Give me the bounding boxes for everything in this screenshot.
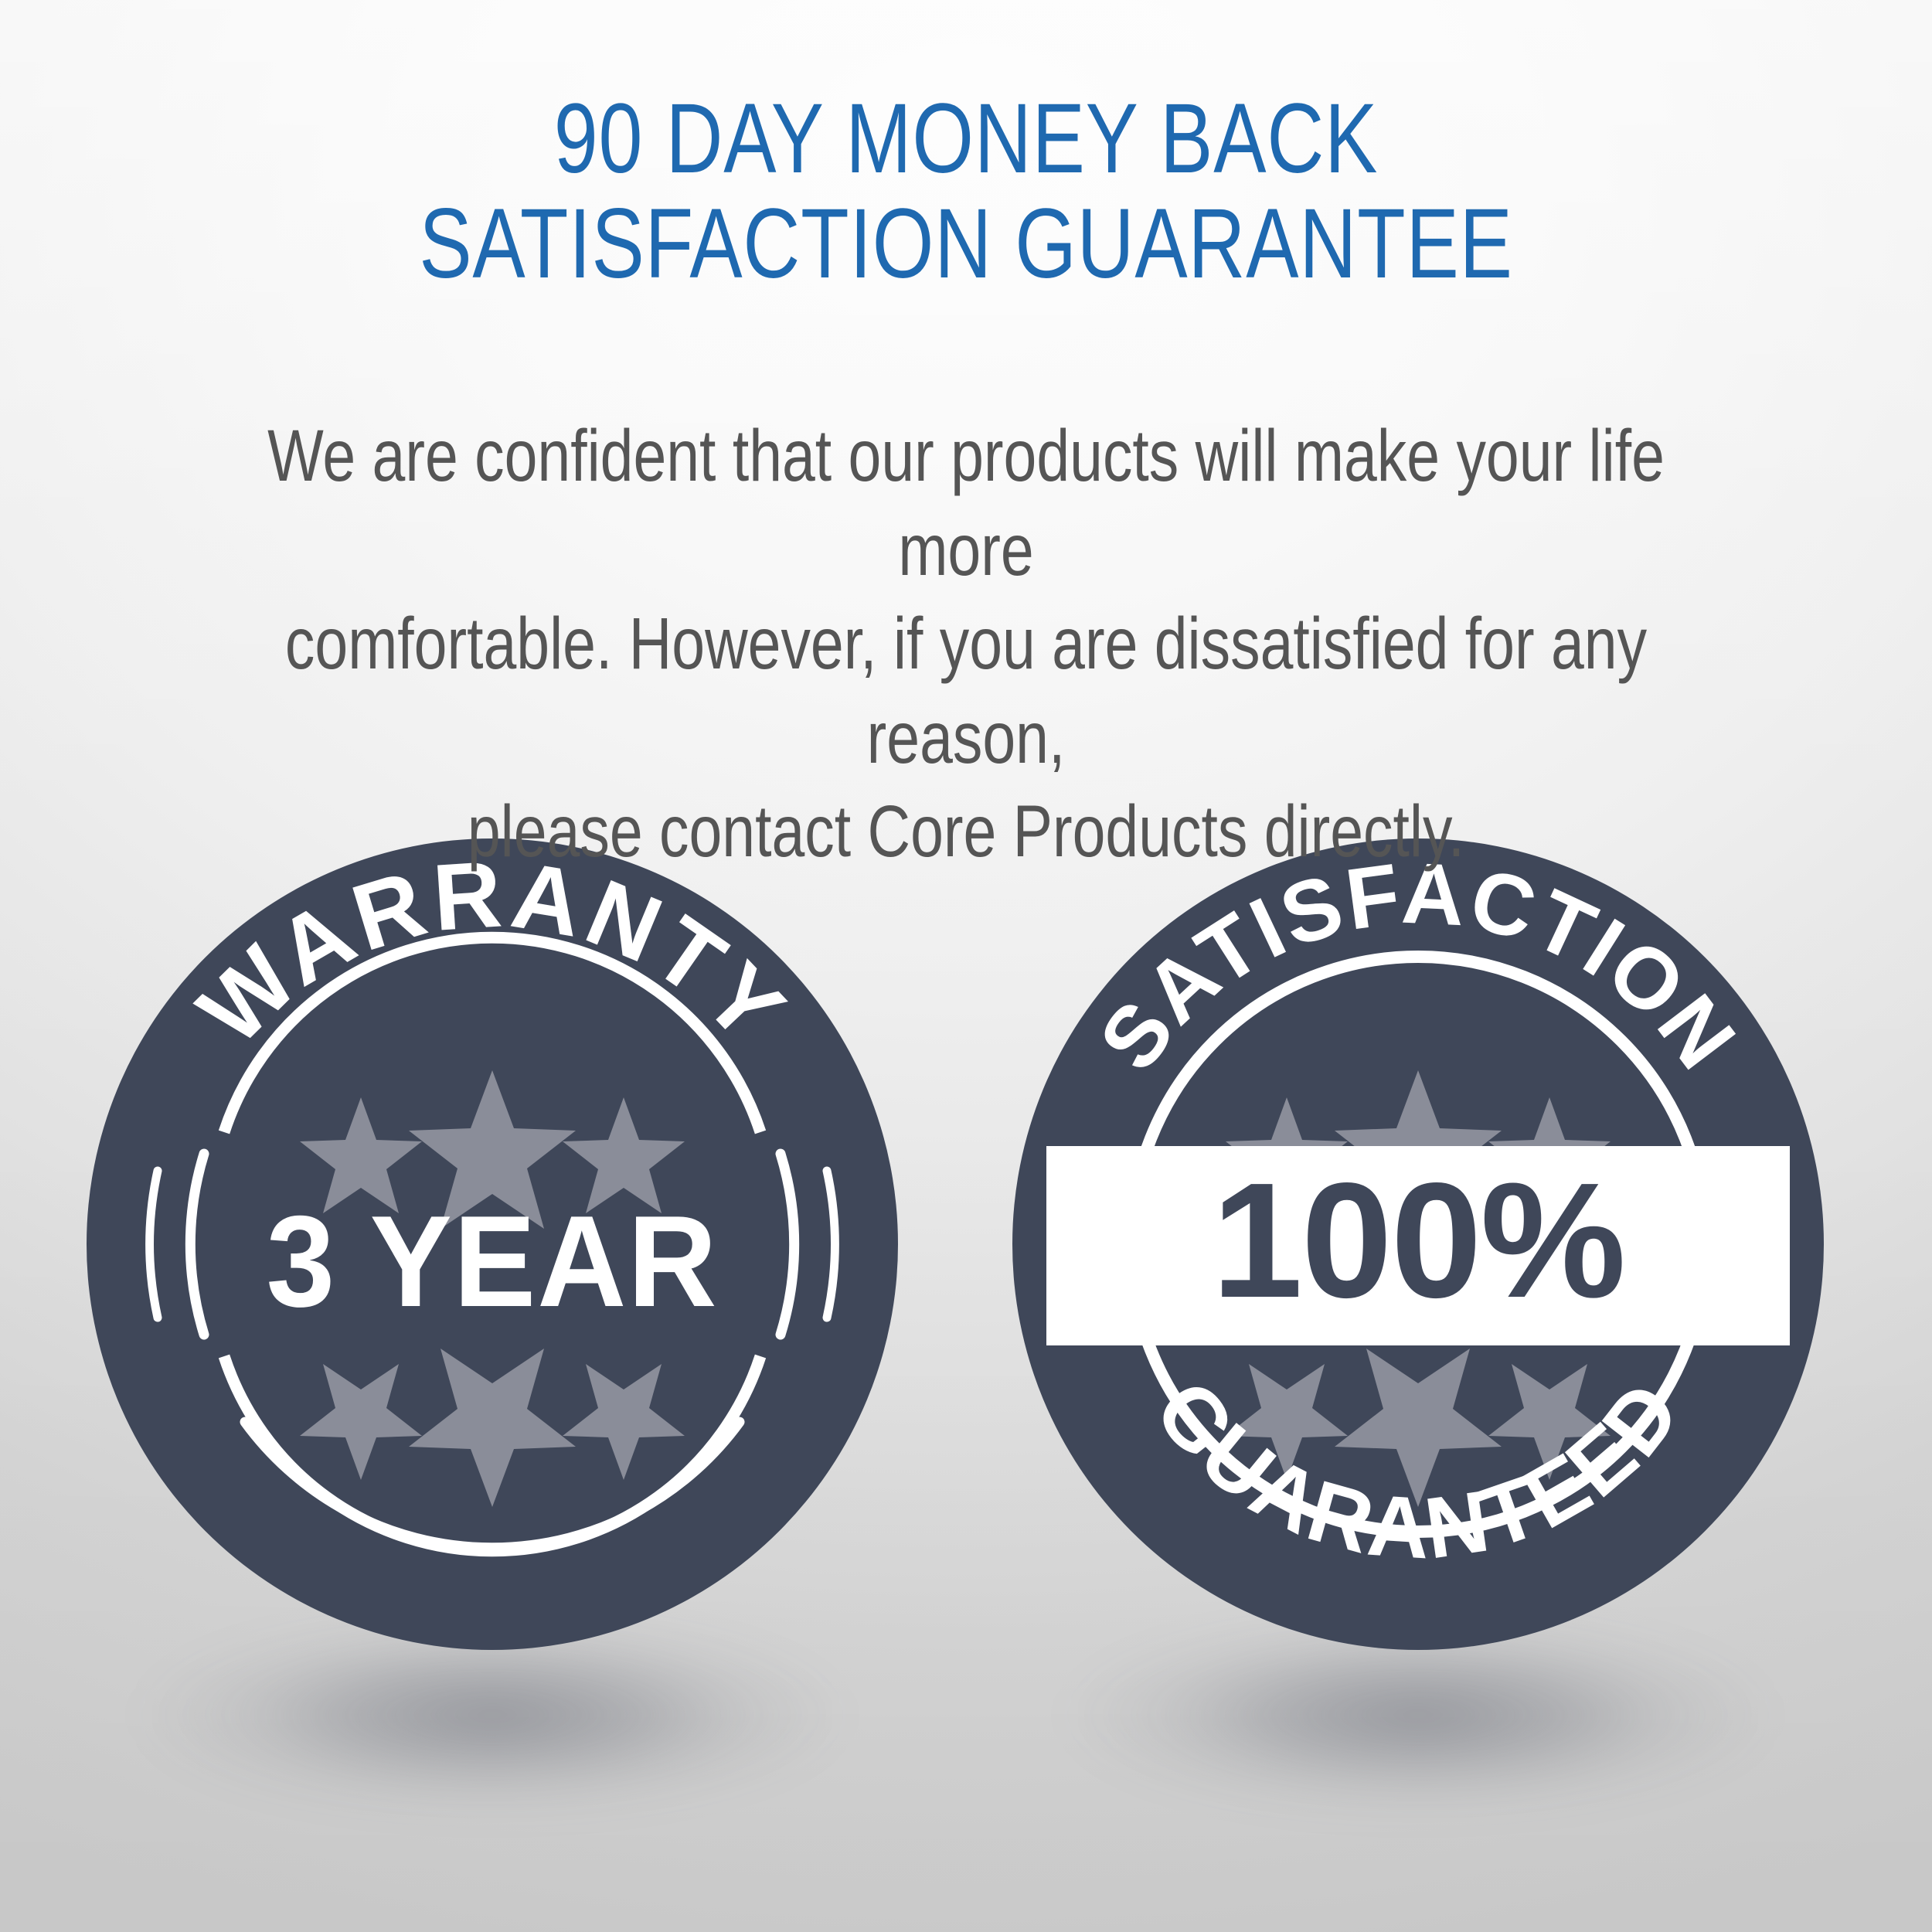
warranty-center-label: 3 YEAR (266, 1189, 718, 1334)
warranty-badge: WARRANTY 3 YEAR (87, 838, 898, 1650)
satisfaction-center-label: 100% (1212, 1148, 1624, 1332)
guarantee-graphic: 90 DAY MONEY BACK SATISFACTION GUARANTEE… (0, 0, 1932, 1932)
guarantee-description-line-3: please contact Core Products directly. (468, 791, 1464, 872)
page-title: 90 DAY MONEY BACK SATISFACTION GUARANTEE (193, 87, 1739, 296)
satisfaction-badge: 100% SATISFACTION GUARANTEED (1012, 838, 1824, 1650)
guarantee-description-line-1: We are confident that our products will … (267, 415, 1665, 591)
guarantee-description: We are confident that our products will … (250, 410, 1683, 879)
guarantee-description-line-2: comfortable. However, if you are dissati… (285, 603, 1647, 779)
badge-row: WARRANTY 3 YEAR (0, 838, 1932, 1689)
